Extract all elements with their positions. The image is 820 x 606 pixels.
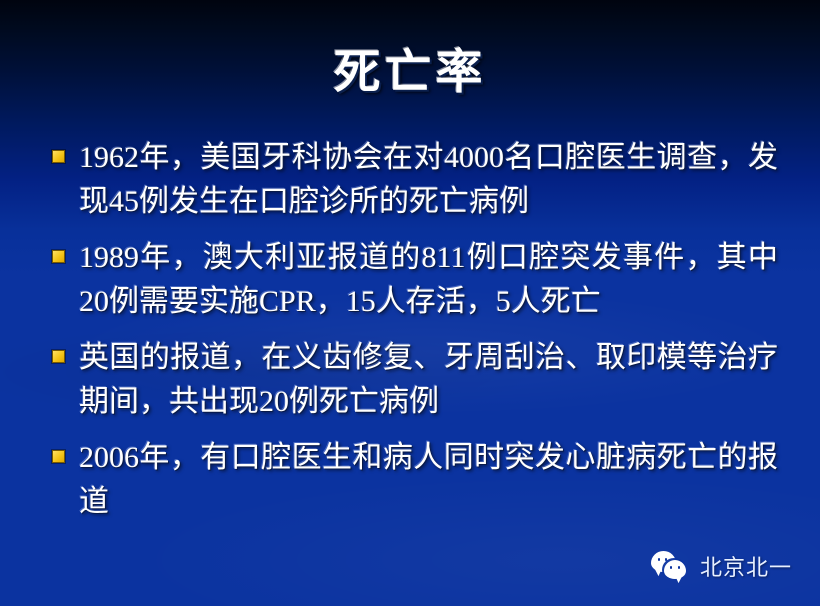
list-item-text: 英国的报道，在义齿修复、牙周刮治、取印模等治疗期间，共出现20例死亡病例 — [79, 336, 778, 424]
yellow-square-bullet-icon — [52, 150, 65, 163]
list-item: 英国的报道，在义齿修复、牙周刮治、取印模等治疗期间，共出现20例死亡病例 — [52, 336, 778, 424]
yellow-square-bullet-icon — [52, 450, 65, 463]
list-item: 2006年，有口腔医生和病人同时突发心脏病死亡的报道 — [52, 436, 778, 524]
watermark: 北京北一 — [651, 550, 792, 582]
yellow-square-bullet-icon — [52, 250, 65, 263]
bullet-list: 1962年，美国牙科协会在对4000名口腔医生调查，发现45例发生在口腔诊所的死… — [52, 136, 778, 536]
list-item-text: 1989年，澳大利亚报道的811例口腔突发事件，其中20例需要实施CPR，15人… — [79, 236, 778, 324]
list-item: 1989年，澳大利亚报道的811例口腔突发事件，其中20例需要实施CPR，15人… — [52, 236, 778, 324]
slide-title: 死亡率 — [0, 33, 820, 102]
list-item-text: 1962年，美国牙科协会在对4000名口腔医生调查，发现45例发生在口腔诊所的死… — [79, 136, 778, 224]
list-item: 1962年，美国牙科协会在对4000名口腔医生调查，发现45例发生在口腔诊所的死… — [52, 136, 778, 224]
watermark-label: 北京北一 — [700, 550, 792, 582]
list-item-text: 2006年，有口腔医生和病人同时突发心脏病死亡的报道 — [79, 436, 778, 524]
yellow-square-bullet-icon — [52, 350, 65, 363]
wechat-icon — [651, 551, 691, 581]
presentation-slide: 死亡率 1962年，美国牙科协会在对4000名口腔医生调查，发现45例发生在口腔… — [0, 0, 820, 606]
